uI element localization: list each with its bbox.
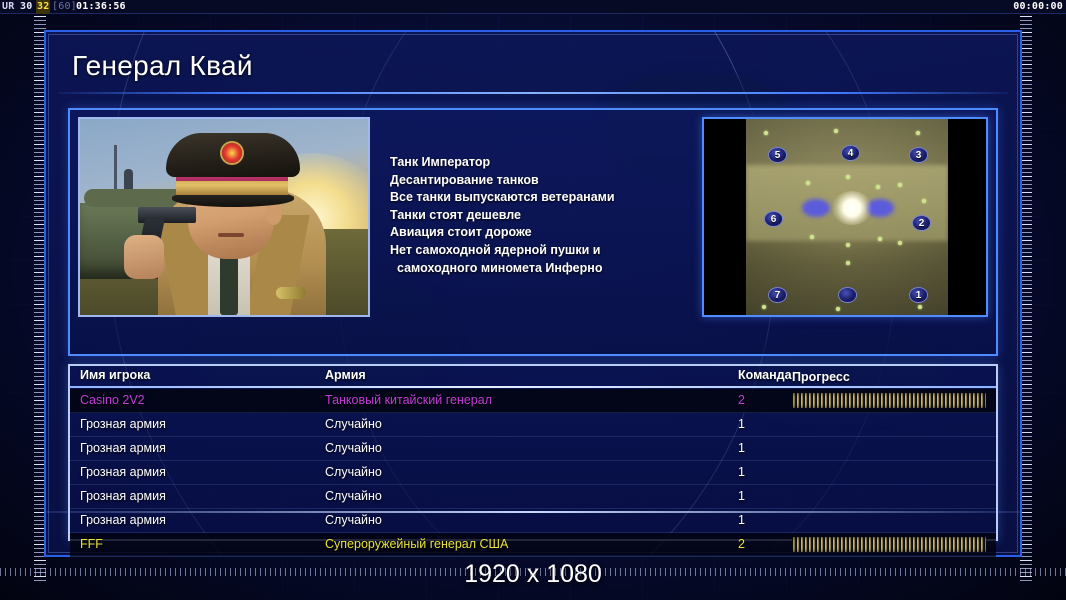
cell-player-name: Грозная армия xyxy=(80,489,166,503)
column-header-progress: Прогресс xyxy=(792,370,850,384)
description-line: Все танки выпускаются ветеранами xyxy=(390,189,740,207)
table-row[interactable]: Грозная армияСлучайно1 xyxy=(70,461,996,485)
cell-army: Супероружейный генерал США xyxy=(325,537,508,551)
minimap-start-position[interactable]: 1 xyxy=(909,287,928,303)
uniform-badge-icon xyxy=(276,287,306,299)
table-header-row: Имя игрока Армия Команда Прогресс xyxy=(70,366,996,388)
cell-army: Случайно xyxy=(325,513,382,527)
minimap-start-position[interactable]: 7 xyxy=(768,287,787,303)
description-line: Десантирование танков xyxy=(390,172,740,190)
table-row[interactable]: Грозная армияСлучайно1 xyxy=(70,413,996,437)
cell-team: 1 xyxy=(738,441,745,455)
status-elapsed: 01:36:56 xyxy=(76,0,126,14)
cell-army: Случайно xyxy=(325,489,382,503)
cell-team: 1 xyxy=(738,489,745,503)
player-table: Имя игрока Армия Команда Прогресс Casino… xyxy=(68,364,998,541)
description-line: самоходного миномета Инферно xyxy=(390,260,740,278)
column-header-player: Имя игрока xyxy=(80,368,150,382)
status-value-max: [60] xyxy=(52,0,77,14)
description-line: Танки стоят дешевле xyxy=(390,207,740,225)
cell-player-name: Грозная армия xyxy=(80,441,166,455)
cell-team: 1 xyxy=(738,513,745,527)
table-row[interactable]: Грозная армияСлучайно1 xyxy=(70,485,996,509)
resolution-bar: 1920 x 1080 xyxy=(0,558,1066,600)
table-row[interactable]: Грозная армияСлучайно1 xyxy=(70,437,996,461)
cell-team: 1 xyxy=(738,465,745,479)
minimap-start-position[interactable] xyxy=(838,287,857,303)
minimap-start-position[interactable]: 5 xyxy=(768,147,787,163)
minimap-start-position[interactable]: 3 xyxy=(909,147,928,163)
table-body: Casino 2V2Танковый китайский генерал2Гро… xyxy=(70,389,996,539)
resolution-label: 1920 x 1080 xyxy=(0,560,1066,589)
page-title: Генерал Квай xyxy=(62,42,1004,90)
description-line: Танк Император xyxy=(390,154,740,172)
loading-window: Генерал Квай xyxy=(44,30,1022,557)
cell-army: Случайно xyxy=(325,441,382,455)
cell-team: 1 xyxy=(738,417,745,431)
cell-progress-bar xyxy=(792,393,986,408)
title-divider xyxy=(58,92,1008,94)
cell-team: 2 xyxy=(738,393,745,407)
minimap-start-position[interactable]: 4 xyxy=(841,145,860,161)
page-title-text: Генерал Квай xyxy=(62,42,1004,90)
bottom-divider xyxy=(46,511,1020,513)
cell-army: Случайно xyxy=(325,417,382,431)
table-row[interactable]: Casino 2V2Танковый китайский генерал2 xyxy=(70,389,996,413)
status-bar: UR 30 32 [60] 01:36:56 00:00:00 xyxy=(0,0,1066,14)
cell-player-name: Casino 2V2 xyxy=(80,393,145,407)
cell-team: 2 xyxy=(738,537,745,551)
cell-player-name: Грозная армия xyxy=(80,465,166,479)
general-info-frame: Танк ИмператорДесантирование танковВсе т… xyxy=(68,108,998,356)
minimap-start-position[interactable]: 6 xyxy=(764,211,783,227)
column-header-team: Команда xyxy=(738,368,792,382)
status-value-b: 32 xyxy=(36,0,50,14)
column-header-army: Армия xyxy=(325,368,366,382)
status-value-a: 30 xyxy=(20,0,32,14)
minimap-start-position[interactable]: 2 xyxy=(912,215,931,231)
description-line: Нет самоходной ядерной пушки и xyxy=(390,242,740,260)
cell-player-name: FFF xyxy=(80,537,103,551)
cap-insignia-icon xyxy=(222,143,242,163)
minimap-terrain: 5436271 xyxy=(746,119,948,315)
cell-army: Танковый китайский генерал xyxy=(325,393,492,407)
general-description: Танк ИмператорДесантирование танковВсе т… xyxy=(390,154,740,277)
status-label: UR xyxy=(2,0,14,14)
cell-player-name: Грозная армия xyxy=(80,417,166,431)
table-row[interactable]: FFFСупероружейный генерал США2 xyxy=(70,533,996,557)
general-portrait xyxy=(78,117,370,317)
minimap: 5436271 xyxy=(702,117,988,317)
cell-progress-bar xyxy=(792,537,986,552)
cell-player-name: Грозная армия xyxy=(80,513,166,527)
description-line: Авиация стоит дороже xyxy=(390,224,740,242)
status-right-timer: 00:00:00 xyxy=(1013,0,1063,14)
cell-army: Случайно xyxy=(325,465,382,479)
app-root: UR 30 32 [60] 01:36:56 00:00:00 Генерал … xyxy=(0,0,1066,600)
